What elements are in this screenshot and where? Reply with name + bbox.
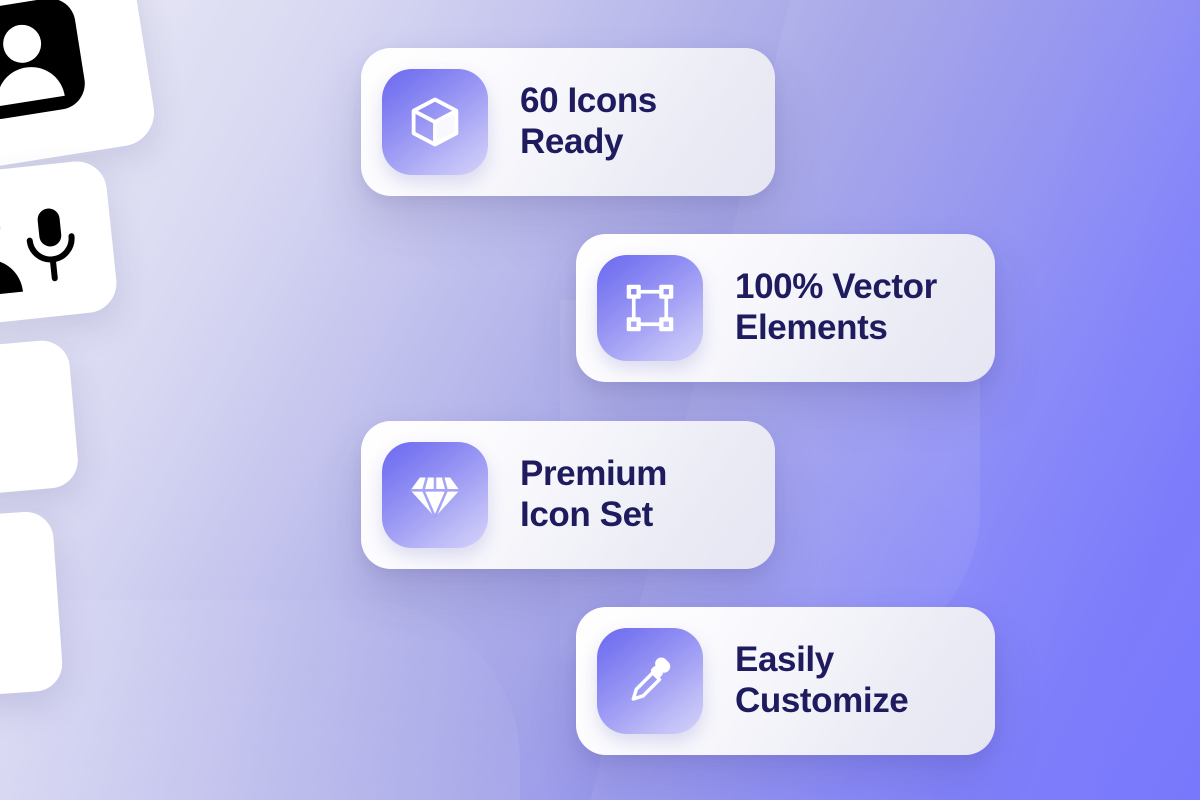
deco-card-person — [0, 0, 159, 173]
person-icon — [0, 369, 22, 478]
feature-card-label: 60 Icons Ready — [520, 81, 657, 163]
eyedropper-icon — [597, 628, 703, 734]
feature-card-label: Easily Customize — [735, 640, 908, 722]
poster-stage: 60 Icons Ready 100% Vector Elements — [0, 0, 1200, 800]
deco-card-person-small — [0, 338, 80, 499]
feature-card-60-icons-ready[interactable]: 60 Icons Ready — [361, 48, 775, 196]
deco-card-blank — [0, 510, 64, 700]
vector-node-icon — [597, 255, 703, 361]
feature-card-premium-icon-set[interactable]: Premium Icon Set — [361, 421, 775, 569]
person-icon — [0, 0, 93, 127]
feature-card-label: 100% Vector Elements — [735, 267, 937, 349]
diamond-icon — [382, 442, 488, 548]
feature-card-100-percent-vector-elements[interactable]: 100% Vector Elements — [576, 234, 995, 382]
feature-card-label: Premium Icon Set — [520, 454, 667, 536]
person-microphone-icon — [0, 194, 99, 301]
cube-icon — [382, 69, 488, 175]
feature-card-easily-customize[interactable]: Easily Customize — [576, 607, 995, 755]
deco-card-person-microphone — [0, 158, 119, 329]
background-blob-bottom-left — [0, 600, 520, 800]
